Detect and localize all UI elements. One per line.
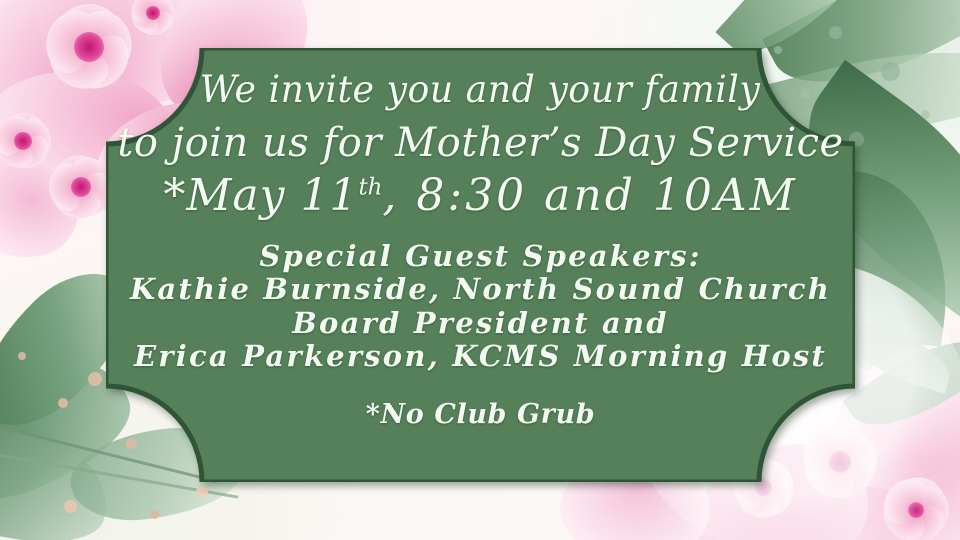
date-suffix: , 8:30 and 10AM [382, 170, 797, 221]
green-invitation-panel: We invite you and your family to join us… [106, 48, 855, 482]
date-prefix: *May 11 [163, 170, 358, 221]
speaker-two-name: Erica Parkerson, KCMS Morning Host [134, 340, 827, 373]
speaker-one-title: Board President and [292, 307, 668, 340]
speaker-one-name: Kathie Burnside, North Sound Church [130, 273, 831, 306]
blossom-icon [80, 186, 81, 187]
invitation-card: We invite you and your family to join us… [0, 0, 960, 540]
footnote: *No Club Grub [366, 399, 595, 430]
blossom-icon [152, 12, 153, 13]
panel-content: We invite you and your family to join us… [106, 48, 855, 482]
speakers-heading: Special Guest Speakers: [259, 240, 701, 273]
invite-line-1: We invite you and your family [200, 71, 761, 109]
blossom-icon [88, 46, 89, 47]
invite-line-2: to join us for Mother’s Day Service [117, 123, 843, 164]
invite-date-line: *May 11th, 8:30 and 10AM [163, 174, 797, 219]
date-ordinal: th [358, 174, 382, 200]
blossom-icon [22, 140, 23, 141]
